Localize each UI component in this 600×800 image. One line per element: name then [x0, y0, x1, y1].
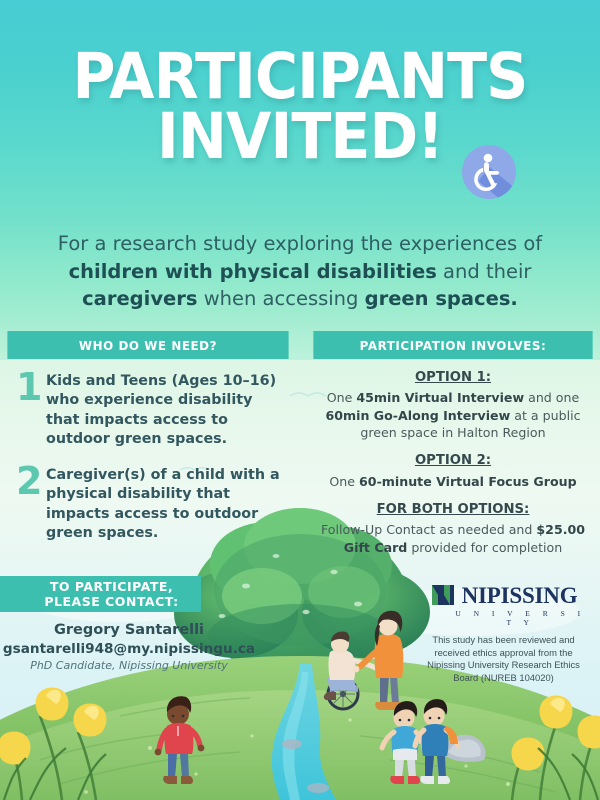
- list-item-text: Caregiver(s) of a child with a physical …: [46, 466, 280, 544]
- to-participate-banner: TO PARTICIPATE, PLEASE CONTACT:: [0, 576, 201, 612]
- list-item-text: Kids and Teens (Ages 10–16) who experien…: [46, 372, 280, 450]
- nipissing-n-monogram-icon: [430, 582, 456, 608]
- ethics-line-1: This study has been reviewed and: [416, 634, 591, 647]
- subtitle-bold-3: green spaces.: [365, 287, 518, 310]
- option-heading: OPTION 1:: [306, 369, 600, 387]
- option-heading: FOR BOTH OPTIONS:: [306, 501, 600, 519]
- ethics-line-3: Nipissing University Research Ethics: [416, 659, 591, 672]
- option-heading: OPTION 2:: [306, 452, 600, 470]
- option-text-b: provided for completion: [407, 540, 562, 555]
- participation-involves-banner: PARTICIPATION INVOLVES:: [313, 331, 592, 359]
- subtitle-text-2: and their: [437, 260, 532, 283]
- poster-title: PARTICIPANTS INVITED!: [0, 48, 600, 166]
- option-text-a: One: [327, 390, 357, 405]
- list-item: 1 Kids and Teens (Ages 10–16) who experi…: [16, 372, 280, 450]
- contact-name: Gregory Santarelli: [0, 622, 258, 638]
- institution-block: NIPISSING U N I V E R S I T Y This study…: [416, 582, 591, 685]
- option-text-a: One: [329, 474, 359, 489]
- poster-root: PARTICIPANTS INVITED! For a research stu…: [0, 0, 600, 800]
- ethics-statement: This study has been reviewed and receive…: [416, 634, 591, 685]
- option-text-bold-1: 45min Virtual Interview: [356, 390, 524, 405]
- contact-email[interactable]: gsantarelli948@my.nipissingu.ca: [0, 641, 258, 657]
- who-do-we-need-list: 1 Kids and Teens (Ages 10–16) who experi…: [0, 359, 296, 560]
- subtitle-bold-1: children with physical disabilities: [69, 260, 437, 283]
- option-body: One 45min Virtual Interview and one 60mi…: [320, 389, 586, 441]
- option-block: FOR BOTH OPTIONS: Follow-Up Contact as n…: [306, 501, 600, 556]
- wheelchair-icon: [462, 145, 516, 199]
- poster-subtitle: For a research study exploring the exper…: [26, 230, 574, 313]
- ethics-line-2: received ethics approval from the: [416, 647, 591, 660]
- to-participate-line-1: TO PARTICIPATE,: [50, 579, 173, 594]
- ethics-line-4: Board (NUREB 104020): [416, 672, 591, 685]
- to-participate-line-2: PLEASE CONTACT:: [44, 594, 178, 609]
- option-text-a: Follow-Up Contact as needed and: [321, 522, 536, 537]
- title-line-1: PARTICIPANTS: [21, 48, 579, 106]
- wheelchair-glyph: [471, 153, 507, 191]
- list-item-number: 2: [16, 466, 46, 497]
- who-do-we-need-label: WHO DO WE NEED?: [79, 338, 217, 353]
- list-item-number: 1: [16, 372, 46, 403]
- subtitle-text-3: when accessing: [198, 287, 365, 310]
- who-do-we-need-banner: WHO DO WE NEED?: [7, 331, 288, 359]
- list-item: 2 Caregiver(s) of a child with a physica…: [16, 466, 280, 544]
- participation-involves-label: PARTICIPATION INVOLVES:: [360, 338, 547, 353]
- institution-subname: U N I V E R S I T Y: [450, 609, 591, 627]
- subtitle-bold-2: caregivers: [82, 287, 197, 310]
- option-body: Follow-Up Contact as needed and $25.00 G…: [320, 521, 586, 556]
- institution-name: NIPISSING: [462, 584, 578, 607]
- option-text-bold-2: 60min Go-Along Interview: [325, 408, 510, 423]
- option-body: One 60-minute Virtual Focus Group: [320, 473, 586, 490]
- subtitle-text-1: For a research study exploring the exper…: [58, 232, 542, 255]
- participation-details: OPTION 1: One 45min Virtual Interview an…: [306, 359, 600, 567]
- option-block: OPTION 1: One 45min Virtual Interview an…: [306, 369, 600, 441]
- nipissing-logo: NIPISSING: [416, 582, 591, 608]
- option-text-b: and one: [524, 390, 579, 405]
- contact-details: Gregory Santarelli gsantarelli948@my.nip…: [0, 622, 258, 672]
- option-block: OPTION 2: One 60-minute Virtual Focus Gr…: [306, 452, 600, 490]
- contact-role: PhD Candidate, Nipissing University: [0, 659, 258, 672]
- option-text-bold-1: 60-minute Virtual Focus Group: [359, 474, 577, 489]
